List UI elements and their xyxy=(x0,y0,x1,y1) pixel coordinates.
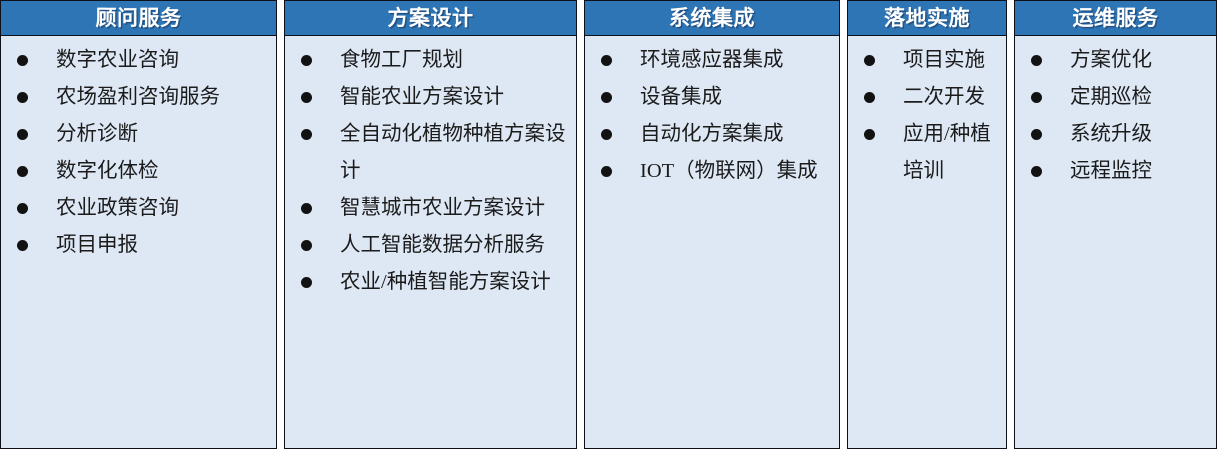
column-body-consulting: 数字农业咨询 农场盈利咨询服务 分析诊断 数字化体检 农业政策咨询 xyxy=(1,36,276,448)
list-item-label: 环境感应器集成 xyxy=(640,42,829,79)
list-item-label: 二次开发 xyxy=(903,79,996,116)
list-item[interactable]: 智慧城市农业方案设计 xyxy=(285,190,572,227)
bullet-icon xyxy=(17,129,28,140)
list-item-label: 项目申报 xyxy=(56,227,266,264)
column-body-implementation: 项目实施 二次开发 应用/种植培训 xyxy=(848,36,1006,448)
list-item[interactable]: 项目实施 xyxy=(848,42,1002,79)
service-list-solution-design: 食物工厂规划 智能农业方案设计 全自动化植物种植方案设计 智慧城市农业方案设计 … xyxy=(285,42,572,301)
list-item[interactable]: 自动化方案集成 xyxy=(585,116,835,153)
list-item[interactable]: 定期巡检 xyxy=(1015,79,1212,116)
list-item[interactable]: 分析诊断 xyxy=(1,116,272,153)
list-item[interactable]: 农业政策咨询 xyxy=(1,190,272,227)
column-system-integration: 系统集成 环境感应器集成 设备集成 自动化方案集成 IOT（物联网）集成 xyxy=(584,0,840,449)
list-item[interactable]: 系统升级 xyxy=(1015,116,1212,153)
column-title: 顾问服务 xyxy=(96,8,182,29)
bullet-icon xyxy=(864,129,875,140)
list-item[interactable]: 方案优化 xyxy=(1015,42,1212,79)
bullet-icon xyxy=(301,129,312,140)
list-item-label: 人工智能数据分析服务 xyxy=(340,227,566,264)
column-operations-maintenance: 运维服务 方案优化 定期巡检 系统升级 远程监控 xyxy=(1014,0,1217,449)
column-header-consulting: 顾问服务 xyxy=(1,1,276,36)
service-capability-table: 顾问服务 数字农业咨询 农场盈利咨询服务 分析诊断 数字化体检 xyxy=(0,0,1217,449)
bullet-icon xyxy=(601,92,612,103)
column-solution-design: 方案设计 食物工厂规划 智能农业方案设计 全自动化植物种植方案设计 智慧 xyxy=(284,0,577,449)
bullet-icon xyxy=(301,92,312,103)
bullet-icon xyxy=(301,55,312,66)
bullet-icon xyxy=(301,277,312,288)
column-title: 系统集成 xyxy=(669,8,755,29)
bullet-icon xyxy=(301,240,312,251)
bullet-icon xyxy=(1031,166,1042,177)
list-item[interactable]: 农场盈利咨询服务 xyxy=(1,79,272,116)
list-item-label: 智能农业方案设计 xyxy=(340,79,566,116)
column-title: 方案设计 xyxy=(388,8,474,29)
service-list-system-integration: 环境感应器集成 设备集成 自动化方案集成 IOT（物联网）集成 xyxy=(585,42,835,190)
column-title: 运维服务 xyxy=(1073,8,1159,29)
list-item-label: 设备集成 xyxy=(640,79,829,116)
list-item[interactable]: 数字化体检 xyxy=(1,153,272,190)
bullet-icon xyxy=(1031,92,1042,103)
list-item-label: 应用/种植培训 xyxy=(903,116,996,190)
list-item[interactable]: 智能农业方案设计 xyxy=(285,79,572,116)
list-item[interactable]: 食物工厂规划 xyxy=(285,42,572,79)
bullet-icon xyxy=(601,55,612,66)
bullet-icon xyxy=(301,203,312,214)
bullet-icon xyxy=(17,92,28,103)
list-item-label: 农业/种植智能方案设计 xyxy=(340,264,566,301)
list-item[interactable]: 农业/种植智能方案设计 xyxy=(285,264,572,301)
column-header-solution-design: 方案设计 xyxy=(285,1,576,36)
list-item-label: 食物工厂规划 xyxy=(340,42,566,79)
list-item-label: 数字农业咨询 xyxy=(56,42,266,79)
list-item[interactable]: 设备集成 xyxy=(585,79,835,116)
column-header-system-integration: 系统集成 xyxy=(585,1,839,36)
list-item[interactable]: 远程监控 xyxy=(1015,153,1212,190)
bullet-icon xyxy=(17,203,28,214)
list-item-label: 项目实施 xyxy=(903,42,996,79)
list-item-label: 定期巡检 xyxy=(1070,79,1206,116)
bullet-icon xyxy=(864,92,875,103)
list-item[interactable]: 人工智能数据分析服务 xyxy=(285,227,572,264)
bullet-icon xyxy=(1031,129,1042,140)
column-title: 落地实施 xyxy=(884,8,970,29)
column-body-solution-design: 食物工厂规划 智能农业方案设计 全自动化植物种植方案设计 智慧城市农业方案设计 … xyxy=(285,36,576,448)
list-item[interactable]: IOT（物联网）集成 xyxy=(585,153,835,190)
column-header-operations-maintenance: 运维服务 xyxy=(1015,1,1216,36)
service-list-implementation: 项目实施 二次开发 应用/种植培训 xyxy=(848,42,1002,190)
list-item-label: 方案优化 xyxy=(1070,42,1206,79)
bullet-icon xyxy=(864,55,875,66)
list-item[interactable]: 全自动化植物种植方案设计 xyxy=(285,116,572,190)
list-item-label: 农业政策咨询 xyxy=(56,190,266,227)
bullet-icon xyxy=(1031,55,1042,66)
column-header-implementation: 落地实施 xyxy=(848,1,1006,36)
list-item-label: 全自动化植物种植方案设计 xyxy=(340,116,566,190)
service-list-operations-maintenance: 方案优化 定期巡检 系统升级 远程监控 xyxy=(1015,42,1212,190)
list-item-label: IOT（物联网）集成 xyxy=(640,153,829,190)
column-consulting: 顾问服务 数字农业咨询 农场盈利咨询服务 分析诊断 数字化体检 xyxy=(0,0,277,449)
list-item-label: 智慧城市农业方案设计 xyxy=(340,190,566,227)
service-list-consulting: 数字农业咨询 农场盈利咨询服务 分析诊断 数字化体检 农业政策咨询 xyxy=(1,42,272,264)
list-item-label: 农场盈利咨询服务 xyxy=(56,79,266,116)
list-item[interactable]: 二次开发 xyxy=(848,79,1002,116)
bullet-icon xyxy=(601,166,612,177)
bullet-icon xyxy=(17,240,28,251)
bullet-icon xyxy=(17,55,28,66)
list-item-label: 远程监控 xyxy=(1070,153,1206,190)
list-item[interactable]: 应用/种植培训 xyxy=(848,116,1002,190)
list-item-label: 分析诊断 xyxy=(56,116,266,153)
column-implementation: 落地实施 项目实施 二次开发 应用/种植培训 xyxy=(847,0,1007,449)
list-item-label: 数字化体检 xyxy=(56,153,266,190)
list-item[interactable]: 数字农业咨询 xyxy=(1,42,272,79)
bullet-icon xyxy=(601,129,612,140)
column-body-system-integration: 环境感应器集成 设备集成 自动化方案集成 IOT（物联网）集成 xyxy=(585,36,839,448)
list-item-label: 系统升级 xyxy=(1070,116,1206,153)
list-item-label: 自动化方案集成 xyxy=(640,116,829,153)
bullet-icon xyxy=(17,166,28,177)
list-item[interactable]: 项目申报 xyxy=(1,227,272,264)
list-item[interactable]: 环境感应器集成 xyxy=(585,42,835,79)
column-body-operations-maintenance: 方案优化 定期巡检 系统升级 远程监控 xyxy=(1015,36,1216,448)
